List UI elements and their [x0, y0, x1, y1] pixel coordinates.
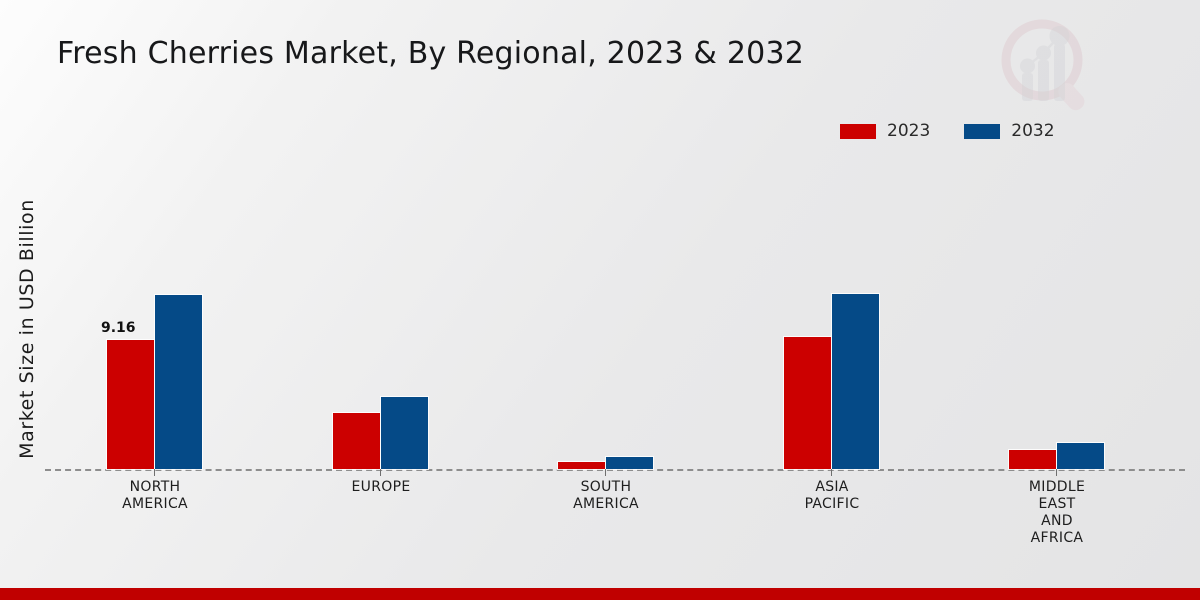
legend-label-2032: 2032	[1011, 121, 1054, 141]
legend-swatch-2023	[840, 124, 876, 139]
legend-item-2023[interactable]: 2023	[840, 121, 930, 141]
y-axis-title: Market Size in USD Billion	[16, 164, 38, 494]
bar-2023[interactable]	[333, 413, 380, 469]
chart-canvas: Fresh Cherries Market, By Regional, 2023…	[0, 0, 1200, 600]
x-axis-category-label: SOUTHAMERICA	[516, 479, 696, 513]
x-axis-category-label: MIDDLEEASTANDAFRICA	[967, 479, 1147, 547]
bar-2023[interactable]	[107, 340, 154, 469]
axis-tick	[1056, 469, 1057, 476]
axis-tick	[831, 469, 832, 476]
bar-value-label: 9.16	[101, 320, 136, 336]
legend-swatch-2032	[964, 124, 1000, 139]
market-research-magnifier-bar-chart-logo-icon	[985, 8, 1105, 118]
x-axis-category-label: ASIAPACIFIC	[742, 479, 922, 513]
bar-2023[interactable]	[558, 462, 605, 469]
plot-area: 9.16NORTHAMERICAEUROPESOUTHAMERICAASIAPA…	[45, 170, 1185, 470]
bar-2032[interactable]	[1057, 443, 1104, 469]
bar-2023[interactable]	[784, 337, 831, 469]
legend-label-2023: 2023	[887, 121, 930, 141]
axis-tick	[605, 469, 606, 476]
bar-2032[interactable]	[381, 397, 428, 469]
x-axis-category-label: EUROPE	[291, 479, 471, 496]
chart-legend: 2023 2032	[840, 121, 1055, 141]
bar-2032[interactable]	[606, 457, 653, 469]
axis-baseline	[45, 469, 1185, 471]
axis-tick	[154, 469, 155, 476]
x-axis-category-label: NORTHAMERICA	[65, 479, 245, 513]
bar-2032[interactable]	[832, 294, 879, 469]
legend-item-2032[interactable]: 2032	[964, 121, 1054, 141]
bar-2023[interactable]	[1009, 450, 1056, 469]
bar-2032[interactable]	[155, 295, 202, 469]
page-title: Fresh Cherries Market, By Regional, 2023…	[57, 36, 804, 71]
axis-tick	[380, 469, 381, 476]
bottom-accent-band	[0, 588, 1200, 600]
